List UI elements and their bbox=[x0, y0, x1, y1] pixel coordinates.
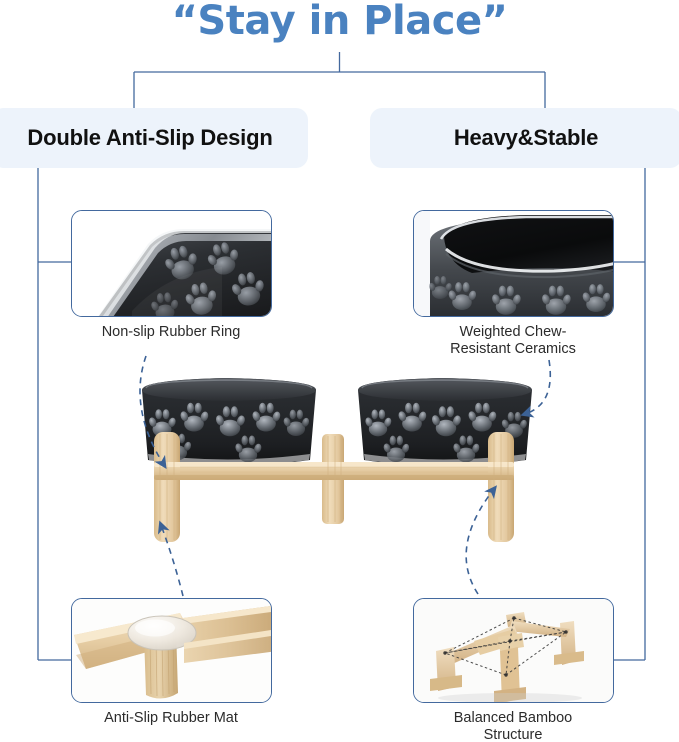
feature-caption-weighted-chew-resistant-ceramics: Weighted Chew- Resistant Ceramics bbox=[402, 324, 624, 358]
page-title: “Stay in Place” bbox=[0, 0, 679, 44]
category-box-heavy-and-stable: Heavy&Stable bbox=[370, 108, 679, 168]
hero-product-elevated-double-bowl-stand bbox=[130, 368, 550, 553]
infographic-page: “Stay in Place” Double Anti-Slip Design … bbox=[0, 0, 679, 742]
feature-photo-anti-slip-rubber-mat bbox=[71, 598, 272, 703]
category-box-double-anti-slip-design: Double Anti-Slip Design bbox=[0, 108, 308, 168]
feature-caption-anti-slip-rubber-mat: Anti-Slip Rubber Mat bbox=[60, 710, 282, 727]
category-label: Heavy&Stable bbox=[454, 125, 598, 151]
feature-photo-balanced-bamboo-structure bbox=[413, 598, 614, 703]
feature-photo-non-slip-rubber-ring bbox=[71, 210, 272, 317]
feature-caption-non-slip-rubber-ring: Non-slip Rubber Ring bbox=[60, 324, 282, 341]
category-label: Double Anti-Slip Design bbox=[27, 125, 272, 151]
feature-photo-weighted-chew-resistant-ceramics bbox=[413, 210, 614, 317]
feature-caption-balanced-bamboo-structure: Balanced Bamboo Structure bbox=[402, 710, 624, 742]
